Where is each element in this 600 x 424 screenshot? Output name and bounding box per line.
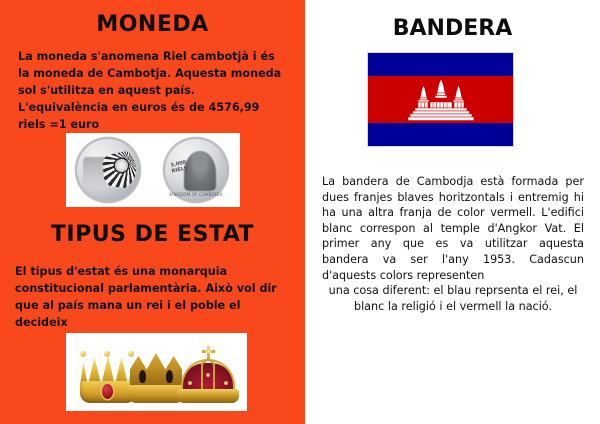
cambodian-coins-photo: 3,000 RIELS KINGDOM OF CAMBODIA bbox=[66, 133, 240, 207]
tipus-de-estat-body-text: El tipus d'estat és una monarquia consti… bbox=[15, 263, 290, 331]
crown-gem-icon bbox=[188, 381, 192, 385]
left-orange-panel: MONEDA La moneda s'anomena Riel cambotjà… bbox=[0, 0, 305, 424]
right-white-panel: BANDERA bbox=[305, 0, 600, 424]
flag-top-blue-stripe bbox=[368, 53, 513, 76]
crown-ball-icon bbox=[80, 351, 86, 357]
crown-notch-shape bbox=[166, 370, 173, 383]
coin-reverse: 3,000 RIELS KINGDOM OF CAMBODIA bbox=[163, 137, 229, 203]
moneda-body-text: La moneda s'anomena Riel cambotjà i és l… bbox=[18, 48, 286, 133]
crown-notch-shape bbox=[139, 370, 146, 383]
cambodia-flag bbox=[368, 53, 513, 146]
flag-bottom-blue-stripe bbox=[368, 123, 513, 146]
crown-ball-icon bbox=[104, 351, 110, 357]
crown-ruby-icon bbox=[102, 384, 113, 399]
crown-gem-icon bbox=[224, 381, 228, 385]
crown-cross-icon bbox=[207, 345, 210, 361]
coin-sun-icon bbox=[115, 159, 128, 172]
bandera-body-centered-text: una cosa diferent: el blau reprsenta el … bbox=[322, 283, 584, 314]
tipus-de-estat-section-title: TIPUS DE ESTAT bbox=[0, 222, 305, 247]
coin-legend-text: KINGDOM OF CAMBODIA bbox=[167, 192, 225, 197]
bandera-section-title: BANDERA bbox=[305, 16, 600, 41]
coin-obverse bbox=[75, 137, 141, 203]
bandera-body-text: La bandera de Cambodja està formada per … bbox=[322, 174, 584, 314]
three-golden-crowns-photo bbox=[66, 333, 247, 411]
bandera-body-justified-text: La bandera de Cambodja està formada per … bbox=[322, 175, 584, 282]
moneda-section-title: MONEDA bbox=[0, 12, 305, 37]
crown-gem-icon bbox=[206, 373, 210, 377]
crown-dome-shape bbox=[130, 353, 182, 389]
crown-band-shape bbox=[177, 389, 239, 403]
crown-cross-icon bbox=[202, 350, 215, 353]
angkor-wat-temple-icon bbox=[408, 78, 474, 122]
royal-velvet-crown-icon bbox=[176, 341, 240, 403]
poster-canvas: MONEDA La moneda s'anomena Riel cambotjà… bbox=[0, 0, 600, 424]
